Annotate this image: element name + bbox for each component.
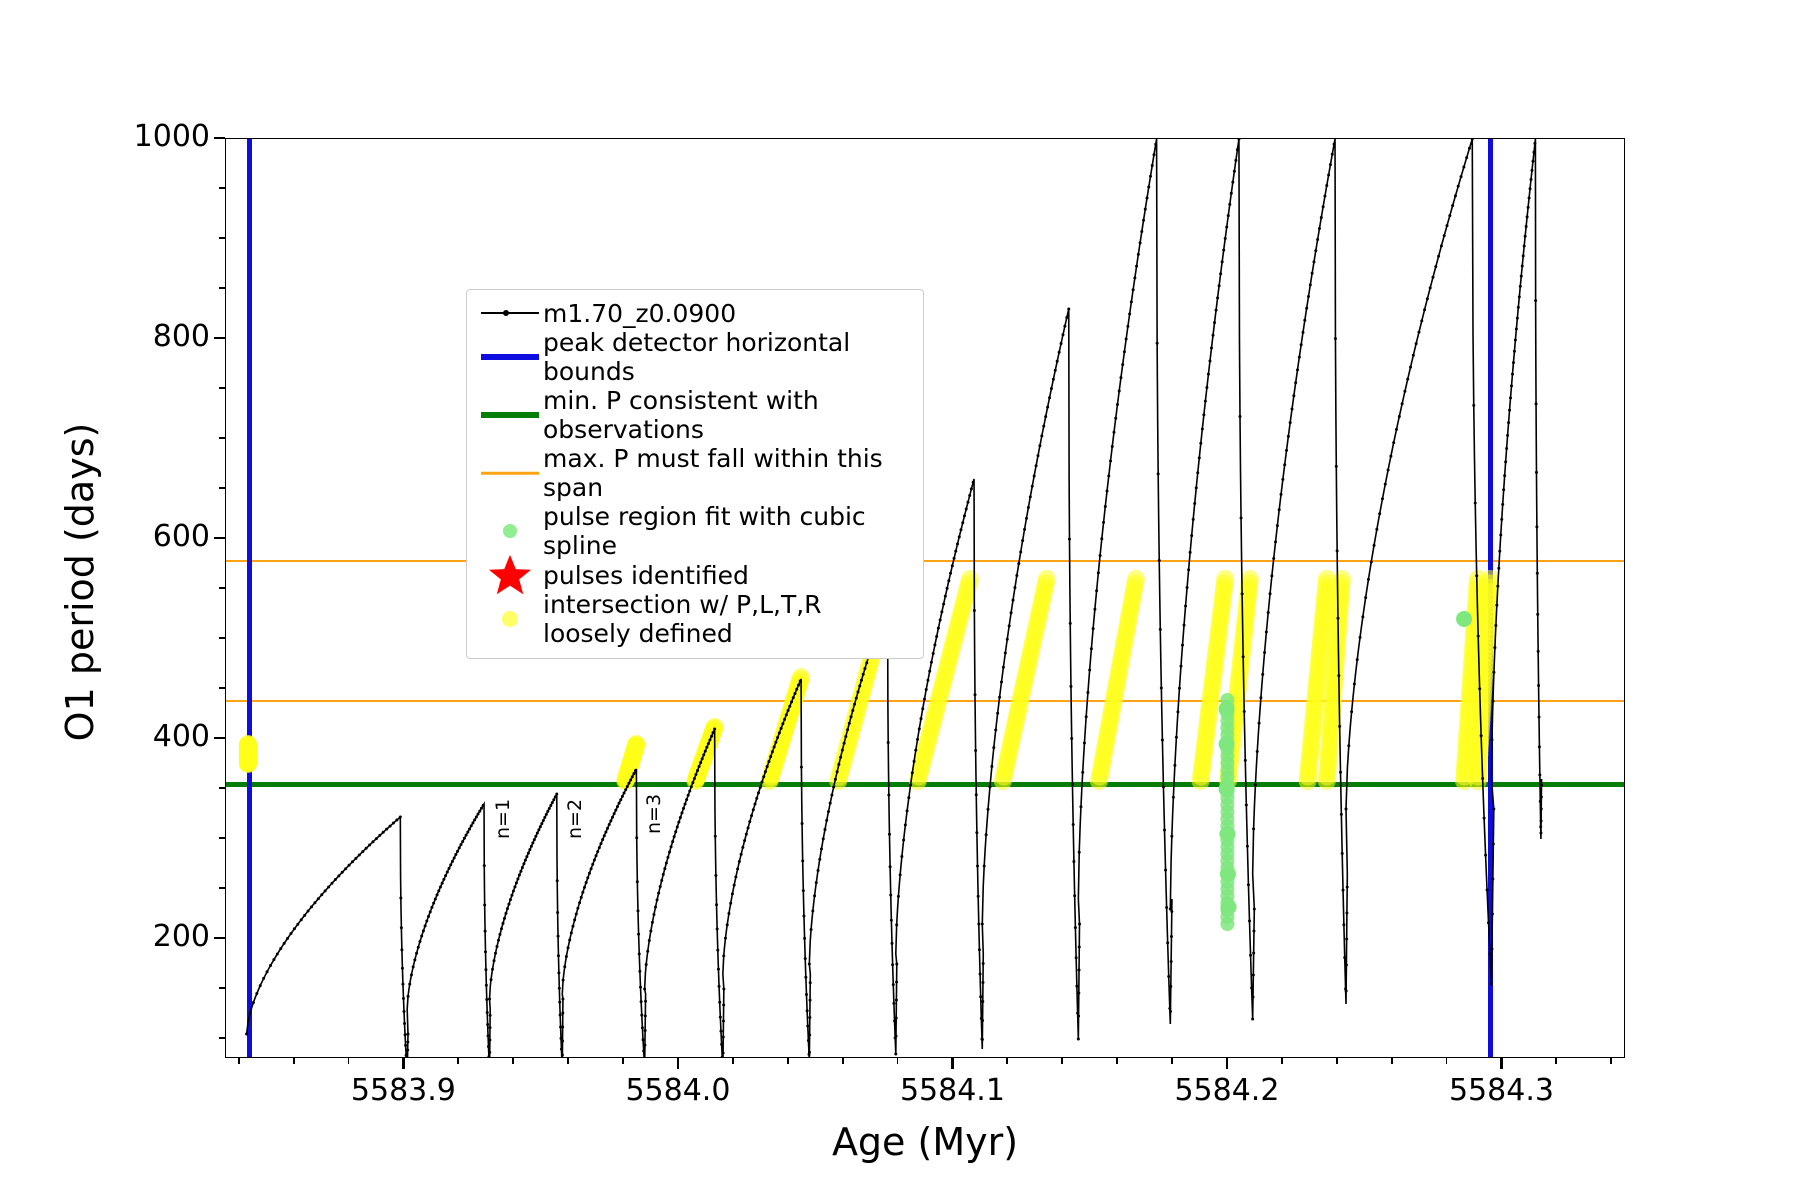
blue-line-icon [477,342,543,372]
green-line-icon [477,400,543,430]
x-tick-major [402,1058,404,1069]
figure-canvas: O1 period (days) Age (Myr) 5583.95584.05… [0,0,1800,1200]
x-tick-minor [1391,1058,1393,1064]
x-tick-minor [1061,1058,1063,1064]
pulse-number-label: n=3 [643,794,665,834]
x-tick-label: 5584.0 [583,1074,773,1108]
orange-line-icon [481,472,539,475]
x-tick-major [1500,1058,1502,1069]
y-tick-label: 1000 [20,121,210,153]
x-axis-label: Age (Myr) [225,1120,1625,1164]
green-dot-icon [503,524,517,538]
x-tick-minor [1610,1058,1612,1064]
legend-label: m1.70_z0.0900 [543,299,736,328]
legend-entry[interactable]: m1.70_z0.0900 [477,298,913,328]
x-tick-minor [622,1058,624,1064]
legend-entry[interactable]: pulse region fit with cubic spline [477,502,913,560]
yellow-dot-icon [477,604,543,634]
x-tick-minor [348,1058,350,1064]
pulse-number-label: n=2 [564,799,586,839]
y-tick-major [214,137,225,139]
yellow-dot-icon [502,611,518,627]
x-tick-minor [787,1058,789,1064]
x-tick-major [1226,1058,1228,1069]
x-tick-major [951,1058,953,1069]
x-tick-minor [1281,1058,1283,1064]
x-tick-minor [842,1058,844,1064]
x-tick-minor [238,1058,240,1064]
y-tick-major [214,337,225,339]
orange-line-icon [477,458,543,488]
x-tick-label: 5584.1 [857,1074,1047,1108]
x-tick-minor [1006,1058,1008,1064]
y-tick-label: 400 [20,721,210,753]
green-dot-icon [477,516,543,546]
blue-line-icon [481,354,539,360]
legend-entry[interactable]: max. P must fall within this span [477,444,913,502]
x-tick-label: 5583.9 [308,1074,498,1108]
legend-entry[interactable]: intersection w/ P,L,T,R loosely defined [477,590,913,648]
x-tick-minor [1446,1058,1448,1064]
y-tick-major [214,737,225,739]
x-tick-major [677,1058,679,1069]
x-tick-label: 5584.3 [1406,1074,1596,1108]
y-tick-label: 200 [20,921,210,953]
legend-label: max. P must fall within this span [543,444,913,502]
pulse-number-label: n=1 [492,799,514,839]
x-tick-label: 5584.2 [1132,1074,1322,1108]
legend-box[interactable]: m1.70_z0.0900peak detector horizontal bo… [466,289,924,659]
line-sample-icon [477,298,543,328]
legend-label: intersection w/ P,L,T,R loosely defined [543,590,822,648]
x-tick-minor [897,1058,899,1064]
x-tick-minor [1555,1058,1557,1064]
x-tick-minor [732,1058,734,1064]
x-tick-minor [1171,1058,1173,1064]
legend-label: min. P consistent with observations [543,386,913,444]
x-tick-minor [457,1058,459,1064]
y-tick-major [214,937,225,939]
legend-label: pulses identified [543,561,749,590]
plot-area: n=1n=2n=3 m1.70_z0.0900peak detector hor… [225,138,1625,1058]
marker-dot-icon [503,310,509,316]
x-tick-minor [1116,1058,1118,1064]
x-tick-minor [512,1058,514,1064]
line-sample-icon [481,312,539,314]
red-star-icon [477,560,543,590]
legend-entry[interactable]: min. P consistent with observations [477,386,913,444]
x-tick-minor [1336,1058,1338,1064]
x-tick-minor [293,1058,295,1064]
y-axis-label: O1 period (days) [58,122,102,1042]
legend-label: pulse region fit with cubic spline [543,502,913,560]
model-curve-layer [226,139,1625,1058]
y-tick-label: 600 [20,521,210,553]
green-line-icon [481,412,539,418]
legend-entry[interactable]: peak detector horizontal bounds [477,328,913,386]
x-tick-minor [567,1058,569,1064]
y-tick-major [214,537,225,539]
legend-label: peak detector horizontal bounds [543,328,913,386]
red-star-icon [487,553,533,597]
legend-entry[interactable]: pulses identified [477,560,913,590]
y-tick-label: 800 [20,321,210,353]
